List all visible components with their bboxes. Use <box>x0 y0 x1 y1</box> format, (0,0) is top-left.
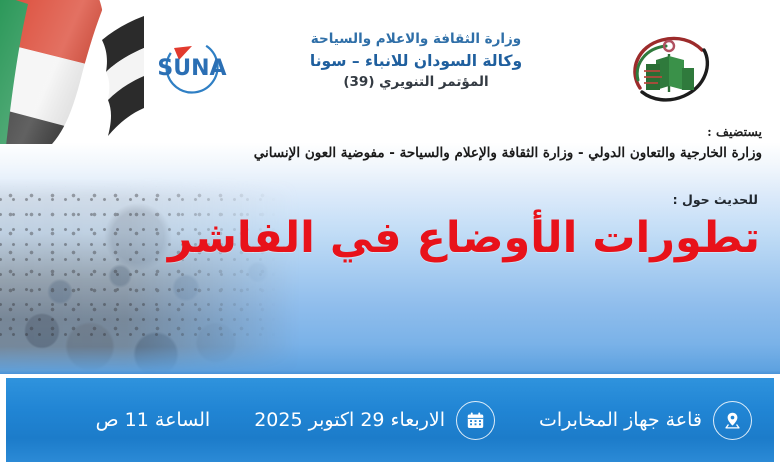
location-pin-icon <box>713 401 752 440</box>
calendar-icon <box>456 401 495 440</box>
time-text: الساعة 11 ص <box>96 409 211 431</box>
date-group: الاربعاء 29 اكتوبر 2025 <box>254 401 495 440</box>
date-text: الاربعاء 29 اكتوبر 2025 <box>254 409 445 431</box>
suna-wordmark: SUNA <box>157 56 226 81</box>
venue-group: قاعة جهاز المخابرات <box>539 401 752 440</box>
event-details-bar: قاعة جهاز المخابرات <box>4 376 776 464</box>
venue-text: قاعة جهاز المخابرات <box>539 409 702 431</box>
book-emblem-logo <box>626 30 712 108</box>
hosts-label: يستضيف : <box>60 122 762 142</box>
ministry-name: وزارة الثقافة والاعلام والسياحة <box>258 30 574 50</box>
header-row: SUNA وزارة الثقافة والاعلام والسياحة وكا… <box>0 0 780 120</box>
hosts-list: وزارة الخارجية والتعاون الدولي - وزارة ا… <box>60 142 762 166</box>
hosts-block: يستضيف : وزارة الخارجية والتعاون الدولي … <box>60 122 762 166</box>
ministry-title-block: وزارة الثقافة والاعلام والسياحة وكالة ال… <box>258 30 574 92</box>
suna-logo: SUNA <box>146 34 238 96</box>
agency-name: وكالة السودان للانباء – سونا <box>258 50 574 72</box>
poster-canvas: SUNA وزارة الثقافة والاعلام والسياحة وكا… <box>0 0 780 470</box>
conference-name: المؤتمر التنويري (39) <box>258 72 574 92</box>
topic-headline: تطورات الأوضاع في الفاشر <box>110 212 760 266</box>
topic-label: للحديث حول : <box>673 192 758 207</box>
